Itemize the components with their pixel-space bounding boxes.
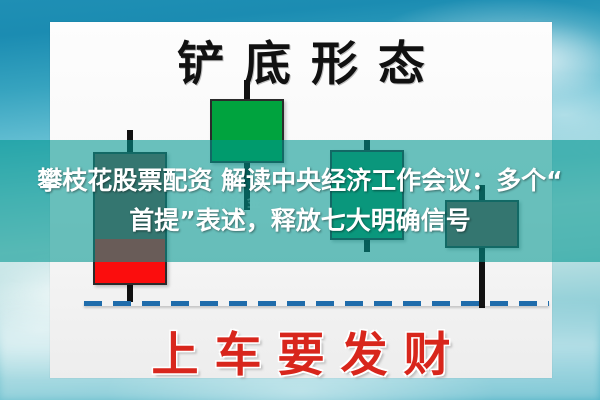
caption-line-1: 攀枝花股票配资 解读中央经济工作会议：多个“ bbox=[37, 164, 562, 198]
caption-line-2: 首提”表述，释放七大明确信号 bbox=[129, 204, 470, 238]
screenshot-stage: 铲底形态 股市论金 上车要发财 攀枝花股票配资 解读中央经济工作会议：多个“ 首… bbox=[0, 0, 600, 400]
chart-title: 铲底形态 bbox=[50, 26, 552, 92]
chart-slogan: 上车要发财 bbox=[50, 322, 552, 378]
support-line-annotation bbox=[84, 301, 549, 306]
caption-overlay-text: 攀枝花股票配资 解读中央经济工作会议：多个“ 首提”表述，释放七大明确信号 bbox=[0, 144, 600, 258]
